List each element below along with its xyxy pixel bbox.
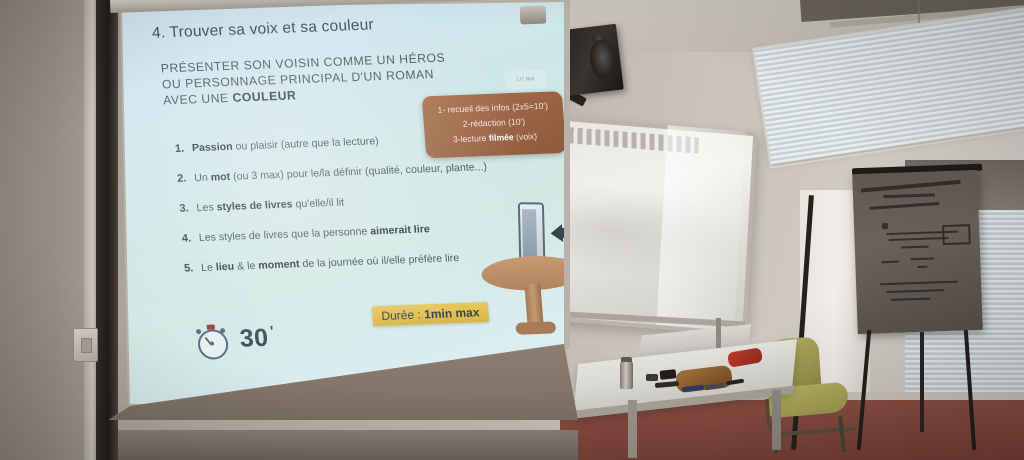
bullet-text: Les styles de livres que la personne aim…	[198, 223, 430, 245]
bullet-number: 4.	[181, 232, 199, 246]
bullet-lead: Les styles de livres que la personne	[198, 225, 370, 244]
subtitle-keyword-couleur: COULEUR	[232, 88, 297, 104]
bullet-rest: de la journée où il/elle préfère lire	[299, 252, 460, 270]
bullet-lead: Un	[194, 172, 211, 185]
slide-title: 4. Trouver sa voix et sa couleur	[151, 16, 374, 42]
list-item: 1. Passion ou plaisir (autre que la lect…	[175, 130, 506, 156]
bullet-keyword-2: moment	[258, 258, 300, 272]
table-leg-right	[772, 390, 781, 450]
presentation-slide: 4. Trouver sa voix et sa couleur PRÉSENT…	[108, 0, 564, 404]
list-item: 5. Le lieu & le moment de la journée où …	[184, 250, 515, 276]
round-table-stem	[524, 284, 543, 326]
thermos-bottle	[620, 362, 633, 389]
marker-a	[660, 369, 677, 380]
bullet-list: 1. Passion ou plaisir (autre que la lect…	[175, 130, 517, 292]
floor-left	[118, 430, 578, 460]
table-leg-left	[628, 400, 637, 458]
bullet-lead: Le	[201, 261, 217, 274]
bullet-keyword: lieu	[215, 261, 234, 274]
subtitle-line-3-text: AVEC UNE	[163, 91, 233, 108]
list-item: 2. Un mot (ou 3 max) pour le/la définir …	[177, 160, 508, 186]
step-line-3-tail: (voix)	[513, 131, 537, 142]
bullet-lead: Les	[196, 201, 217, 214]
marker-b	[646, 374, 658, 381]
bullet-text: Passion ou plaisir (autre que la lecture…	[192, 135, 380, 155]
stopwatch-button-left	[196, 329, 201, 334]
phone-screen	[522, 209, 537, 257]
projection-screen: 4. Trouver sa voix et sa couleur PRÉSENT…	[108, 0, 578, 420]
light-switch[interactable]	[73, 328, 98, 362]
timer-unit: '	[269, 324, 274, 341]
whiteboard-glare	[656, 125, 745, 331]
bullet-number: 3.	[179, 202, 197, 216]
illustration-phone-on-table	[476, 194, 564, 328]
bullet-keyword: mot	[210, 171, 230, 184]
list-item: 4. Les styles de livres que la personne …	[181, 220, 512, 246]
screen-rod-knob	[520, 6, 547, 25]
timer-group: 30'	[195, 322, 276, 357]
bullet-text: Le lieu & le moment de la journée où il/…	[201, 252, 460, 275]
stopwatch-center	[209, 341, 213, 345]
bullet-number: 2.	[177, 172, 195, 186]
flipchart-paper	[852, 170, 983, 334]
speaker-cone-icon	[550, 224, 563, 242]
stopwatch-icon	[195, 324, 229, 357]
bullet-text: Un mot (ou 3 max) pour le/la définir (qu…	[194, 161, 488, 185]
bullet-rest: qu'elle/il lit	[292, 196, 344, 210]
timer-minutes: 30	[239, 324, 270, 353]
round-table-top	[480, 254, 564, 292]
bullet-keyword: aimerait lire	[370, 223, 430, 237]
duration-badge: Durée : 1min max	[372, 302, 490, 326]
brand-logo: LIT Nell	[504, 70, 547, 90]
bullet-rest: (ou 3 max) pour le/la définir (qualité, …	[230, 161, 488, 183]
speaker-woofer	[588, 38, 619, 81]
duration-value: 1min max	[424, 305, 480, 321]
bullet-rest: ou plaisir (autre que la lecture)	[232, 135, 379, 153]
room-photo-scene: 4. Trouver sa voix et sa couleur PRÉSENT…	[0, 0, 1024, 460]
left-wall	[0, 0, 96, 460]
bullet-keyword: styles de livres	[216, 198, 293, 213]
slide-subtitle: PRÉSENTER SON VOISIN COMME UN HÉROS OU P…	[160, 50, 448, 109]
flipchart-leg-center	[920, 332, 924, 432]
round-table-foot	[515, 321, 556, 335]
bullet-number: 5.	[184, 262, 202, 276]
bullet-keyword: Passion	[192, 141, 234, 155]
bullet-text: Les styles de livres qu'elle/il lit	[196, 196, 344, 215]
timer-value: 30'	[239, 324, 276, 355]
bullet-number: 1.	[175, 142, 193, 156]
sound-waves-icon	[549, 214, 564, 251]
list-item: 3. Les styles de livres qu'elle/il lit	[179, 190, 510, 216]
duration-label: Durée :	[381, 307, 425, 323]
bullet-mid: & le	[234, 260, 259, 273]
